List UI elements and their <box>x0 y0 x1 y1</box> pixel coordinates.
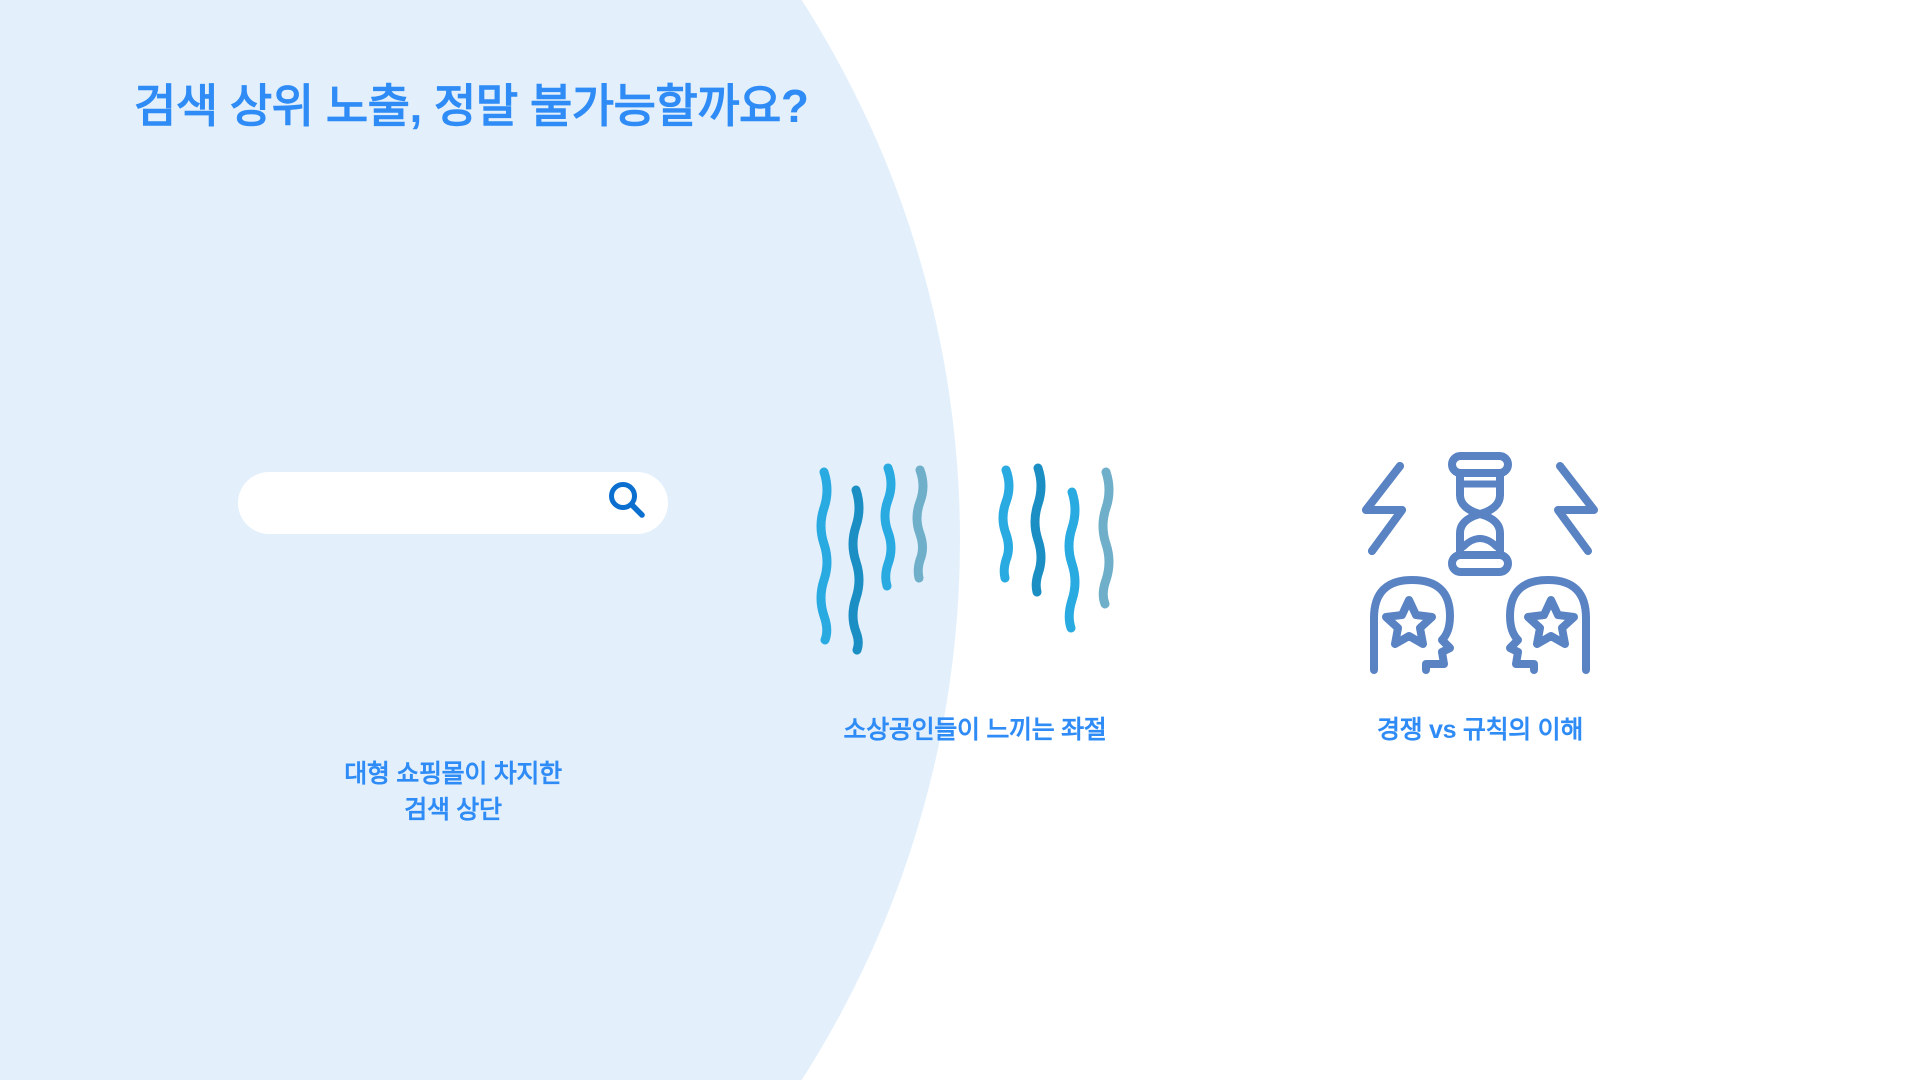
search-icon[interactable] <box>604 478 650 529</box>
items-row: 대형 쇼핑몰이 차지한 검색 상단 <box>0 440 1920 860</box>
item-frustration-visual <box>810 440 1140 690</box>
item-competition-caption: 경쟁 vs 규칙의 이해 <box>1377 712 1583 748</box>
slide-canvas: 검색 상위 노출, 정말 불가능할까요? 대형 쇼핑몰이 차지한 검색 상단 <box>0 0 1920 1080</box>
page-title: 검색 상위 노출, 정말 불가능할까요? <box>134 78 808 136</box>
hourglass-lightning-two-heads-icon <box>1356 448 1604 683</box>
item-frustration-caption: 소상공인들이 느끼는 좌절 <box>844 712 1107 748</box>
item-search: 대형 쇼핑몰이 차지한 검색 상단 <box>238 440 668 829</box>
search-input[interactable] <box>264 471 604 535</box>
item-competition: 경쟁 vs 규칙의 이해 <box>1300 440 1660 748</box>
item-search-caption: 대형 쇼핑몰이 차지한 검색 상단 <box>344 756 562 829</box>
item-search-visual <box>238 440 668 722</box>
item-frustration: 소상공인들이 느끼는 좌절 <box>740 440 1210 748</box>
item-competition-visual <box>1356 440 1604 690</box>
wavy-rain-lines-icon <box>810 458 1140 673</box>
search-bar[interactable] <box>238 472 668 534</box>
